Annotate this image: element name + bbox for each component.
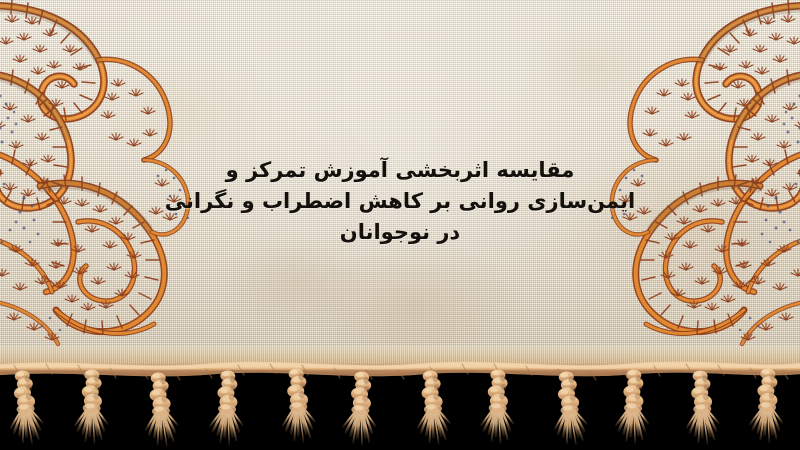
title-slide: مقایسه اثربخشی آموزش تمرکز و ایمن‌سازی ر… <box>0 0 800 450</box>
slide-title: مقایسه اثربخشی آموزش تمرکز و ایمن‌سازی ر… <box>0 155 800 248</box>
title-line-3: در نوجوانان <box>0 217 800 248</box>
tassel-group <box>7 368 785 447</box>
title-line-1: مقایسه اثربخشی آموزش تمرکز و <box>0 155 800 186</box>
tassel-fringe <box>0 360 800 450</box>
title-line-2: ایمن‌سازی روانی بر کاهش اضطراب و نگرانی <box>0 186 800 217</box>
